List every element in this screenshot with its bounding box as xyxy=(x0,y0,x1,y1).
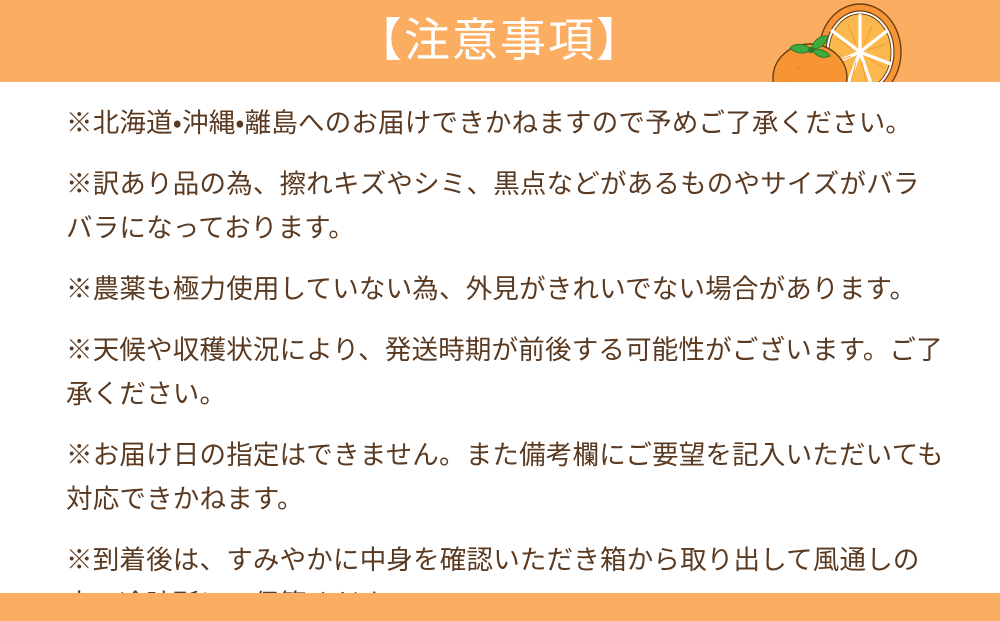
notice-banner: 【注意事項】 xyxy=(0,0,1000,621)
notice-item-2: ※訳あり品の為、擦れキズやシミ、黒点などがあるものやサイズがバラバラになっており… xyxy=(66,162,946,250)
body-area: ※北海道・沖縄・離島へのお届けできかねますので予めご了承ください。 ※訳あり品の… xyxy=(0,82,1000,593)
notice-item-4: ※天候や収穫状況により、発送時期が前後する可能性がございます。ご了承ください。 xyxy=(66,328,946,416)
notice-list: ※北海道・沖縄・離島へのお届けできかねますので予めご了承ください。 ※訳あり品の… xyxy=(66,101,946,621)
notice-item-3: ※農薬も極力使用していない為、外見がきれいでない場合があります。 xyxy=(66,267,946,311)
notice-item-1: ※北海道・沖縄・離島へのお届けできかねますので予めご了承ください。 xyxy=(66,101,946,145)
notice-item-5: ※お届け日の指定はできません。また備考欄にご要望を記入いただいても対応できかねま… xyxy=(66,433,946,521)
footer-band xyxy=(0,593,1000,621)
